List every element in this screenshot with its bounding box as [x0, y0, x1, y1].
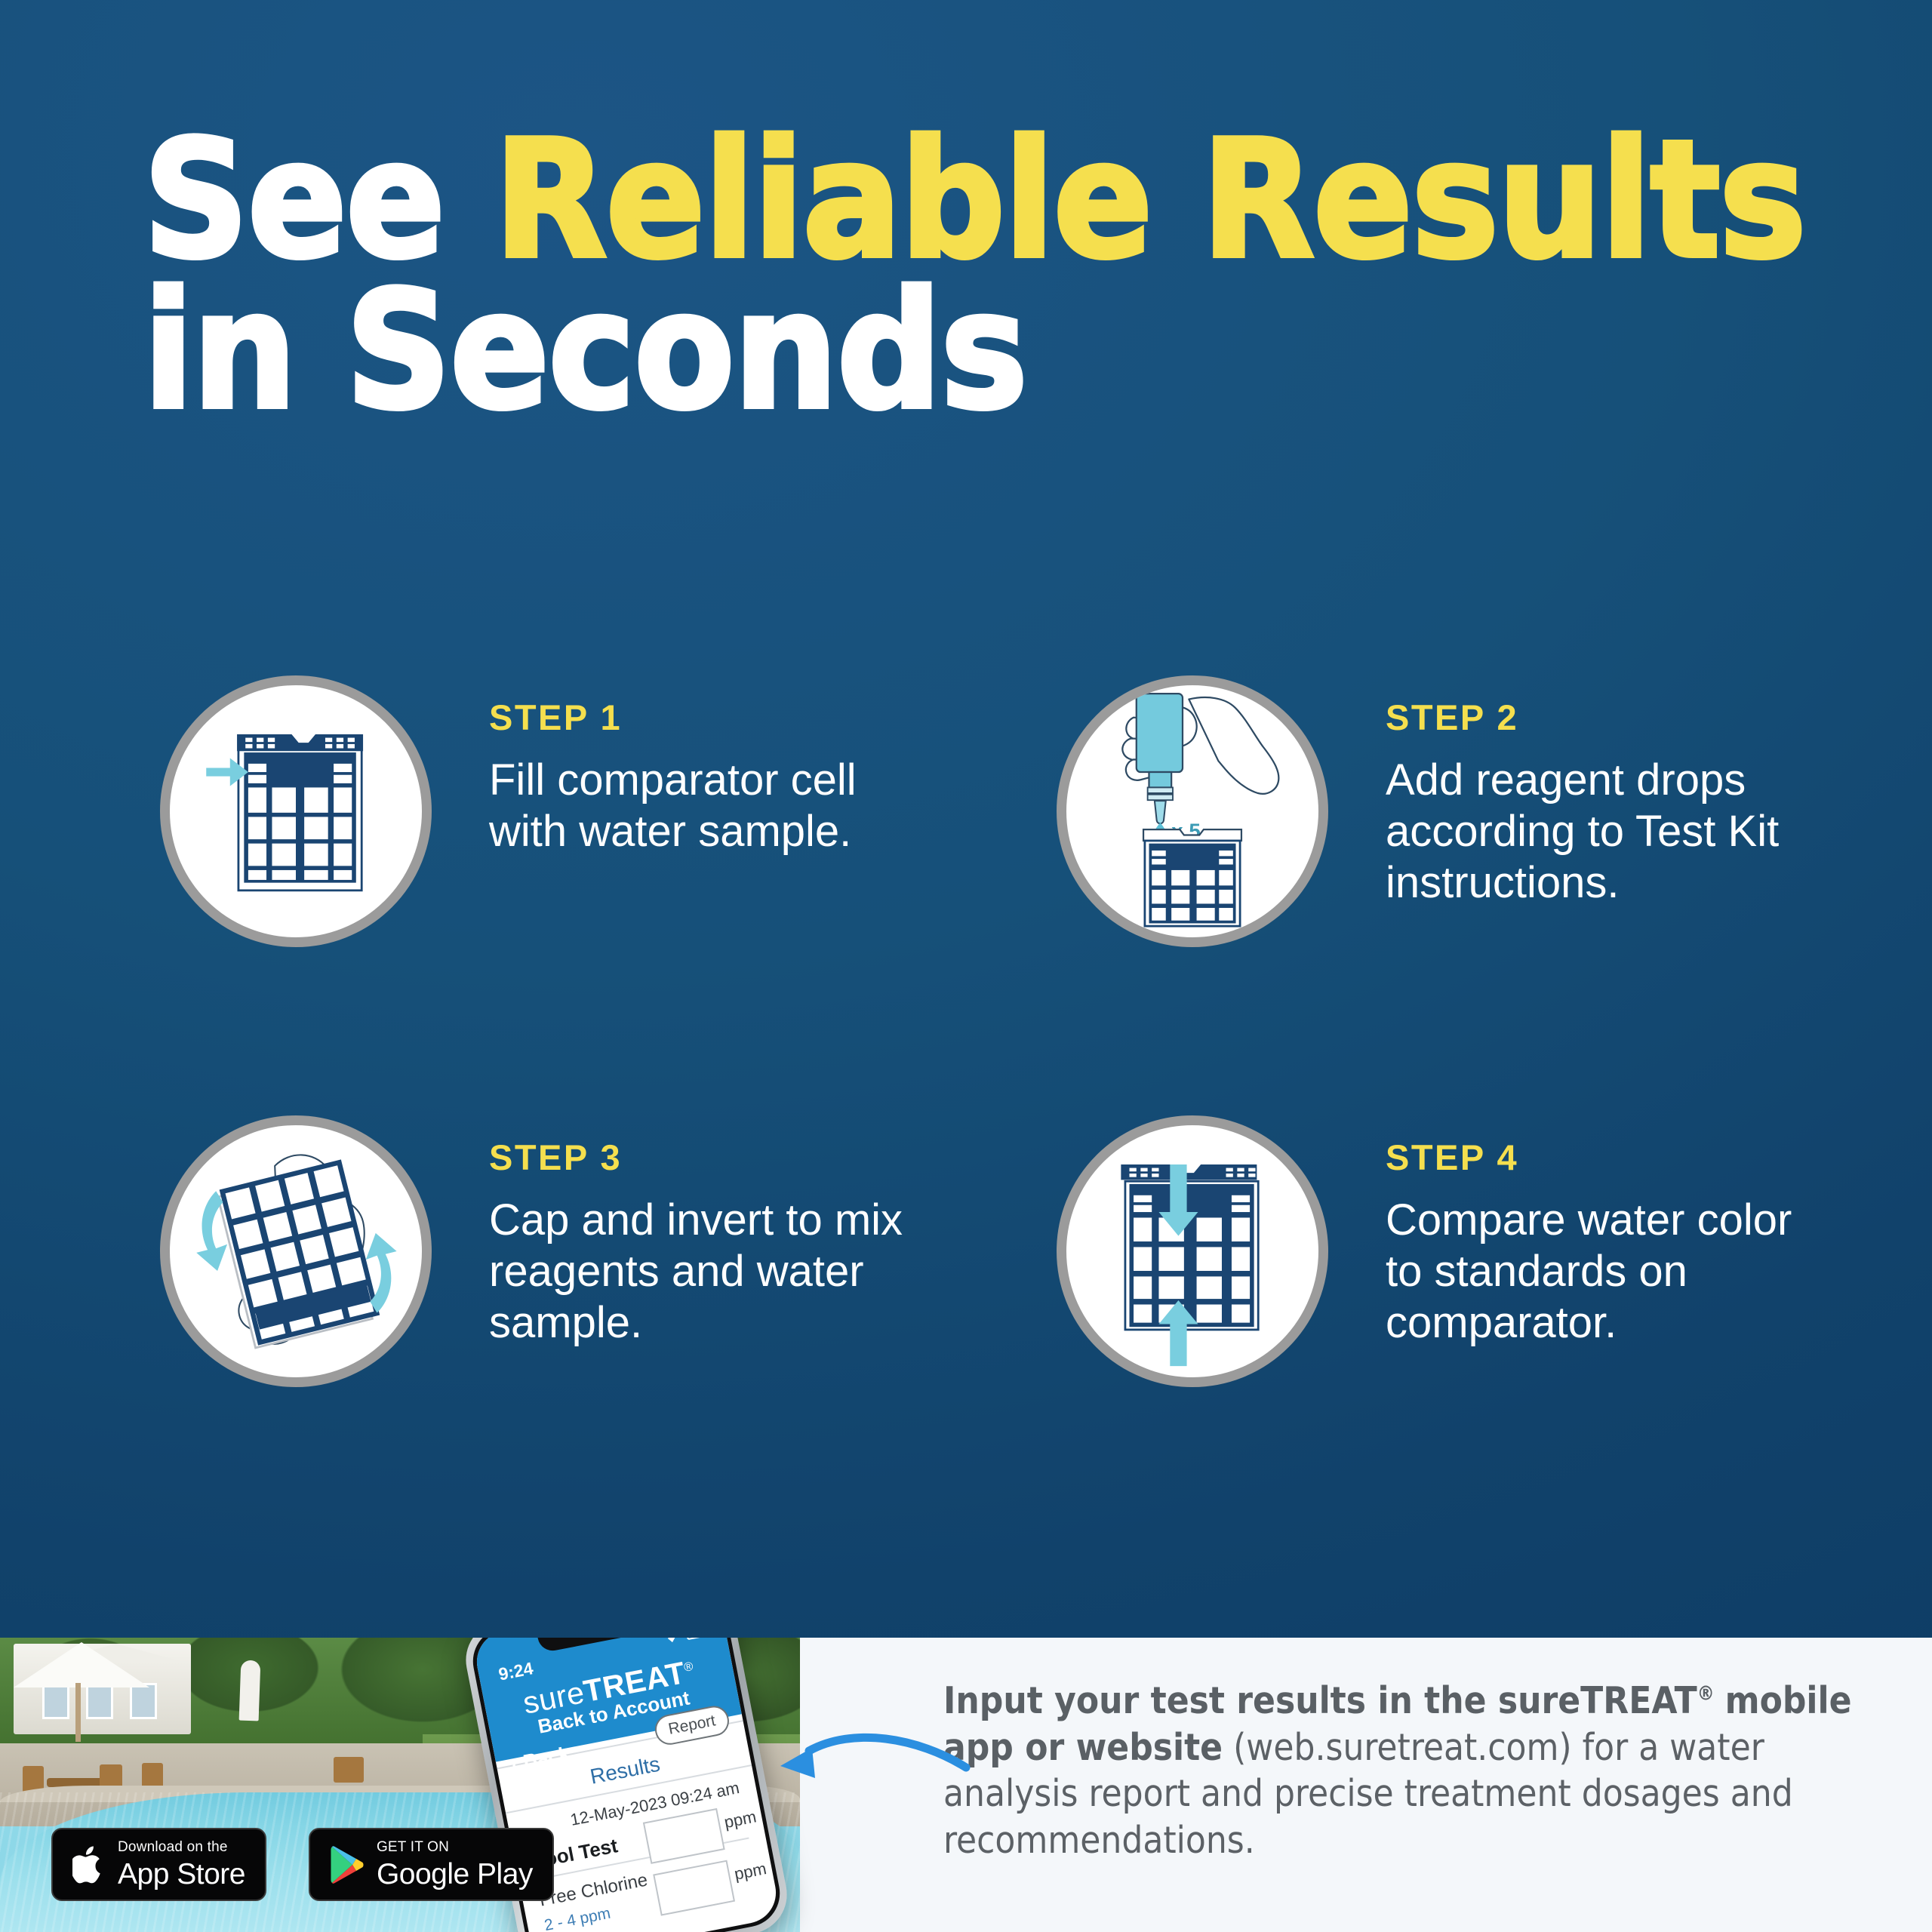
- step-card-1: STEP 1 Fill comparator cell with water s…: [160, 675, 912, 947]
- app-store-badge[interactable]: Download on the App Store: [51, 1828, 266, 1901]
- google-play-badge-title: Google Play: [377, 1860, 533, 1889]
- step-1-body: Fill comparator cell with water sample.: [489, 755, 912, 857]
- google-play-logo-icon: [330, 1845, 365, 1884]
- step-1-text: STEP 1 Fill comparator cell with water s…: [489, 675, 912, 857]
- step-card-3: STEP 3 Cap and invert to mix reagents an…: [160, 1115, 912, 1387]
- brand-registered-icon: ®: [683, 1660, 695, 1675]
- reagent-dropper-hand-icon: x 5: [1066, 685, 1318, 937]
- step-2-text: STEP 2 Add reagent drops according to Te…: [1386, 675, 1808, 909]
- garden-bench: [334, 1757, 364, 1783]
- step-2-label: STEP 2: [1386, 697, 1808, 738]
- compare-color-standards-icon: [1066, 1125, 1318, 1377]
- value-input[interactable]: [653, 1860, 735, 1916]
- app-store-badge-title: App Store: [118, 1860, 245, 1889]
- cta-bold-line-1: Input your test results in the sureTREAT: [943, 1679, 1697, 1722]
- headline-line-2: in Seconds: [143, 275, 1804, 426]
- step-1-icon-circle: [160, 675, 432, 947]
- umbrella-pole: [75, 1683, 81, 1742]
- step-3-label: STEP 3: [489, 1137, 912, 1178]
- closed-umbrella: [239, 1660, 261, 1721]
- poolhouse-window: [86, 1683, 113, 1719]
- poolhouse-window: [130, 1683, 157, 1719]
- callout-arrow-icon: [740, 1668, 981, 1819]
- step-2-body: Add reagent drops according to Test Kit …: [1386, 755, 1808, 909]
- poolhouse-window: [42, 1683, 69, 1719]
- bottom-banner: Download on the App Store GET IT ON: [0, 1638, 1932, 1932]
- app-store-badge-subtitle: Download on the: [118, 1840, 245, 1854]
- step-card-4: STEP 4 Compare water color to standards …: [1057, 1115, 1808, 1387]
- unit-label: ppm: [733, 1859, 768, 1884]
- step-1-label: STEP 1: [489, 697, 912, 738]
- step-4-text: STEP 4 Compare water color to standards …: [1386, 1115, 1808, 1349]
- page-title: See Reliable Results in Seconds: [143, 125, 1804, 426]
- step-card-2: x 5 STEP 2 Add reagent drops according t…: [1057, 675, 1808, 947]
- poster-canvas: See Reliable Results in Seconds: [0, 0, 1932, 1932]
- value-input[interactable]: [643, 1808, 725, 1864]
- invert-mix-hand-icon: [170, 1125, 422, 1377]
- cta-text: Input your test results in the sureTREAT…: [943, 1678, 1872, 1864]
- step-4-icon-circle: [1057, 1115, 1328, 1387]
- step-3-text: STEP 3 Cap and invert to mix reagents an…: [489, 1115, 912, 1349]
- headline-line-1: See Reliable Results: [143, 125, 1804, 275]
- step-3-icon-circle: [160, 1115, 432, 1387]
- google-play-badge-subtitle: GET IT ON: [377, 1840, 533, 1854]
- step-4-body: Compare water color to standards on comp…: [1386, 1195, 1808, 1349]
- registered-trademark-mark: ®: [1697, 1683, 1715, 1706]
- cta-url: (web.suretreat.com): [1223, 1726, 1572, 1769]
- step-3-body: Cap and invert to mix reagents and water…: [489, 1195, 912, 1349]
- poolhouse-roof: [20, 1644, 212, 1663]
- apple-logo-icon: [72, 1844, 106, 1885]
- step-4-label: STEP 4: [1386, 1137, 1808, 1178]
- comparator-cell-fill-icon: [170, 685, 422, 937]
- google-play-badge[interactable]: GET IT ON Google Play: [309, 1828, 554, 1901]
- step-2-icon-circle: x 5: [1057, 675, 1328, 947]
- app-store-badges: Download on the App Store GET IT ON: [51, 1828, 554, 1901]
